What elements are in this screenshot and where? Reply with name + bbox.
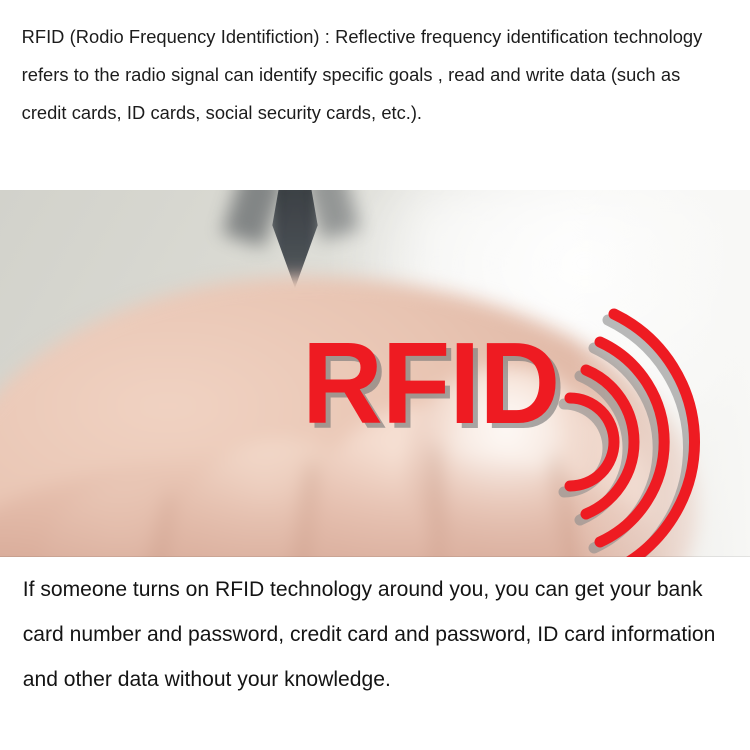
top-description-text: RFID (Rodio Frequency Identifiction) : R… xyxy=(0,0,739,190)
photo-right-fade xyxy=(570,190,750,557)
rfid-hero-photo: RFID xyxy=(0,190,750,557)
bottom-description-text: If someone turns on RFID technology arou… xyxy=(0,557,743,750)
product-description-page: RFID (Rodio Frequency Identifiction) : R… xyxy=(0,0,750,750)
